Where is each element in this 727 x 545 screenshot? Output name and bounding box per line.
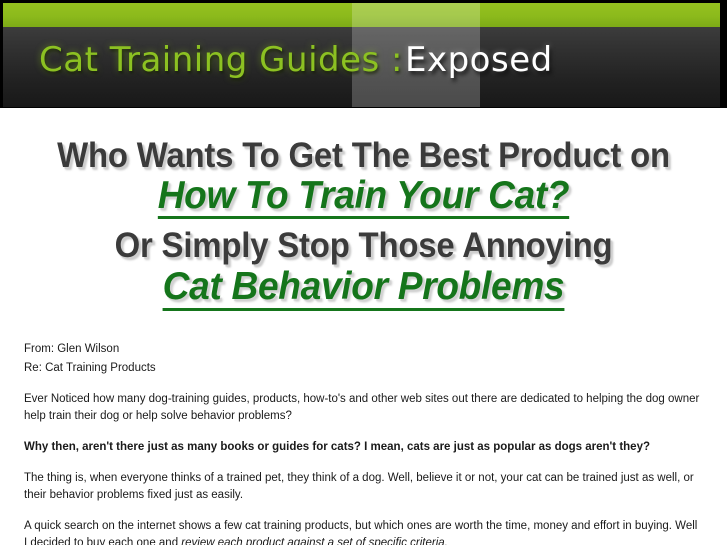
- letter-paragraph-1: Ever Noticed how many dog-training guide…: [24, 391, 703, 425]
- letter-re-line: Re: Cat Training Products: [24, 360, 703, 377]
- headline-line-2: How To Train Your Cat?: [35, 176, 691, 220]
- headline-line-1: Who Wants To Get The Best Product on: [39, 138, 689, 174]
- headline-line-2-text: How To Train Your Cat?: [158, 176, 570, 220]
- site-logo-accent-text: Exposed: [405, 40, 553, 80]
- headline-line-4: Cat Behavior Problems: [35, 267, 691, 311]
- site-logo: Cat Training Guides :Exposed: [39, 30, 679, 90]
- letter-paragraph-3: The thing is, when everyone thinks of a …: [24, 470, 703, 504]
- letter-paragraph-2-bold: Why then, aren't there just as many book…: [24, 439, 703, 456]
- headline-line-3: Or Simply Stop Those Annoying: [39, 228, 689, 264]
- site-logo-main-text: Cat Training Guides :: [39, 40, 403, 80]
- letter-paragraph-4: A quick search on the internet shows a f…: [24, 518, 703, 545]
- headline-line-4-text: Cat Behavior Problems: [163, 267, 565, 311]
- header-inner-panel: Cat Training Guides :Exposed: [3, 3, 720, 107]
- sales-letter-body: From: Glen Wilson Re: Cat Training Produ…: [0, 341, 727, 545]
- page-headline: Who Wants To Get The Best Product on How…: [0, 138, 727, 311]
- site-header-banner: Cat Training Guides :Exposed: [0, 0, 727, 108]
- sales-page: Cat Training Guides :Exposed Who Wants T…: [0, 0, 727, 545]
- header-green-accent-bar: [3, 3, 720, 27]
- letter-from-line: From: Glen Wilson: [24, 341, 703, 358]
- letter-paragraph-4-italic: review each product against a set of spe…: [181, 537, 448, 545]
